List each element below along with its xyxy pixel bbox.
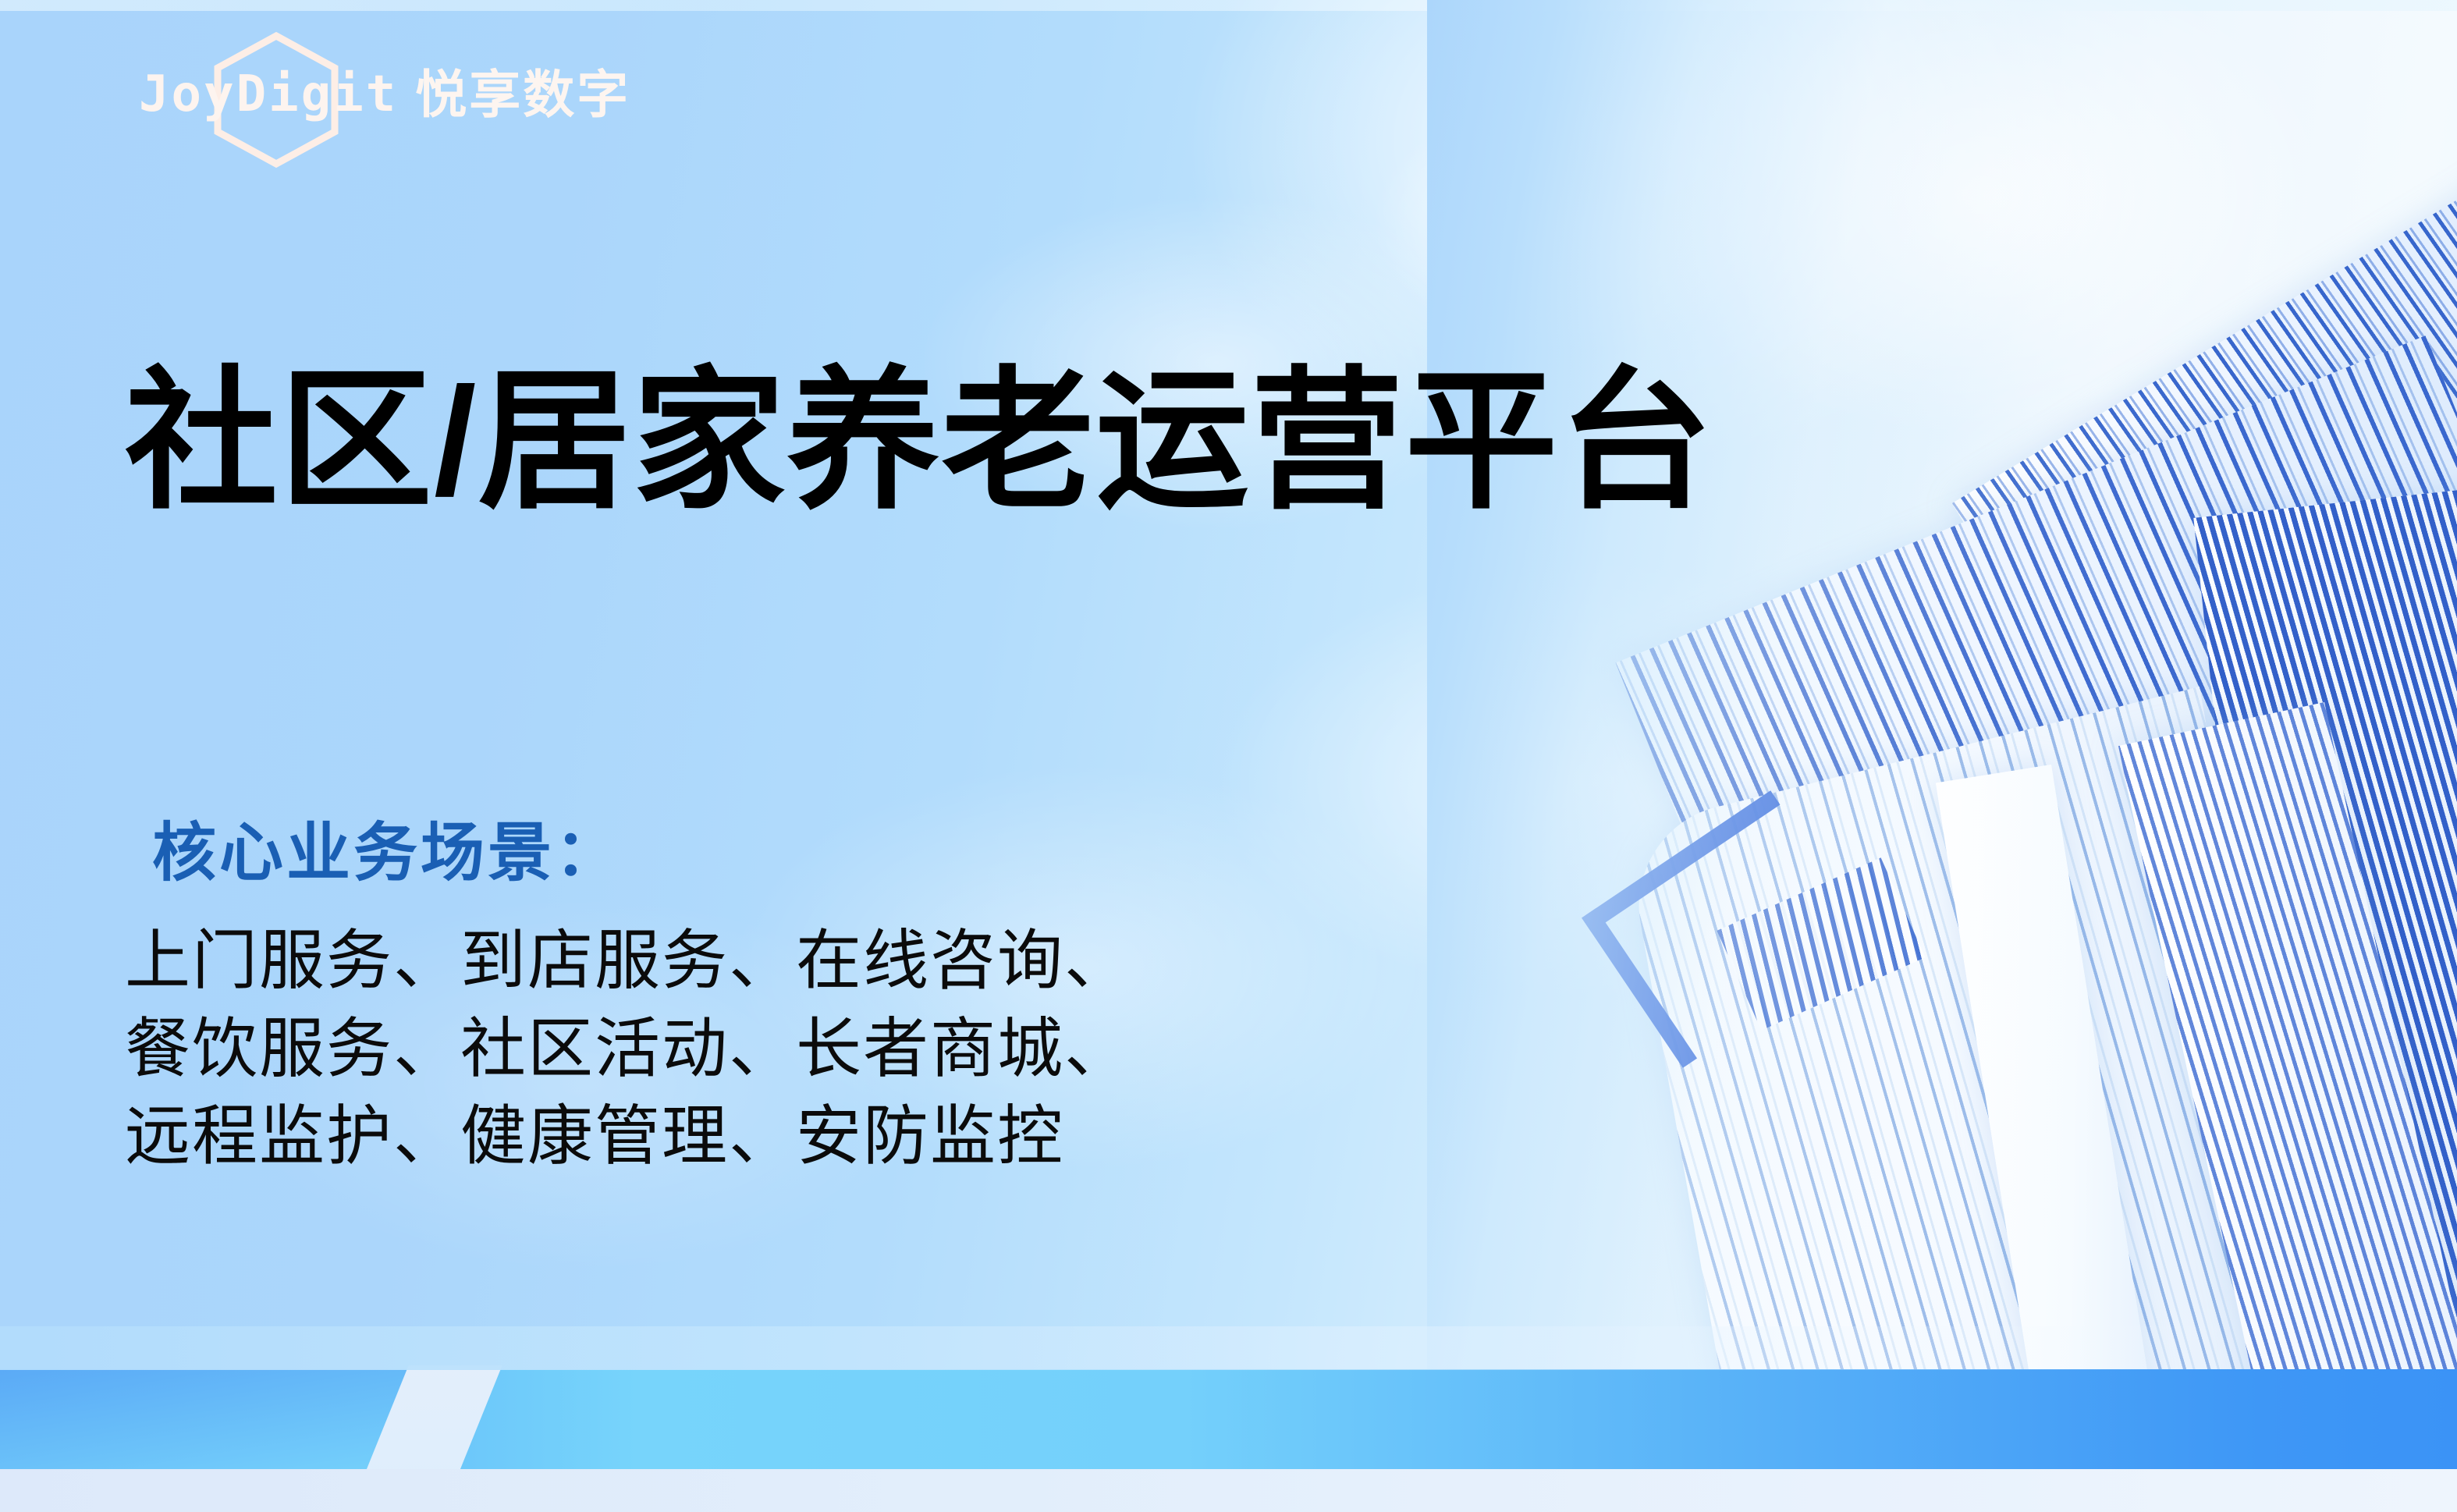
scenario-line: 餐饮服务、社区活动、长者商城、 [125,1005,1131,1093]
logo-chinese-name: 悦享数字 [415,69,630,120]
bottom-decoration-band [0,1326,2457,1512]
brand-logo: JoyDigit 悦享数字 [139,69,630,120]
skyscraper-photo [1427,0,2457,1404]
scenario-line: 远程监护、健康管理、安防监控 [125,1092,1131,1180]
logo-wordmark: JoyDigit [139,69,398,119]
photo-fade-overlay [1427,0,2457,1404]
section-heading: 核心业务场景： [152,822,622,886]
scenario-list: 上门服务、到店服务、在线咨询、 餐饮服务、社区活动、长者商城、 远程监护、健康管… [125,917,1131,1180]
page-title: 社区/居家养老运营平台 [125,356,1713,527]
band-top-fade [0,1326,2457,1370]
scenario-line: 上门服务、到店服务、在线咨询、 [125,917,1131,1005]
band-bottom-strip [0,1469,2457,1512]
presentation-slide: JoyDigit 悦享数字 社区/居家养老运营平台 核心业务场景： 上门服务、到… [0,0,2457,1512]
